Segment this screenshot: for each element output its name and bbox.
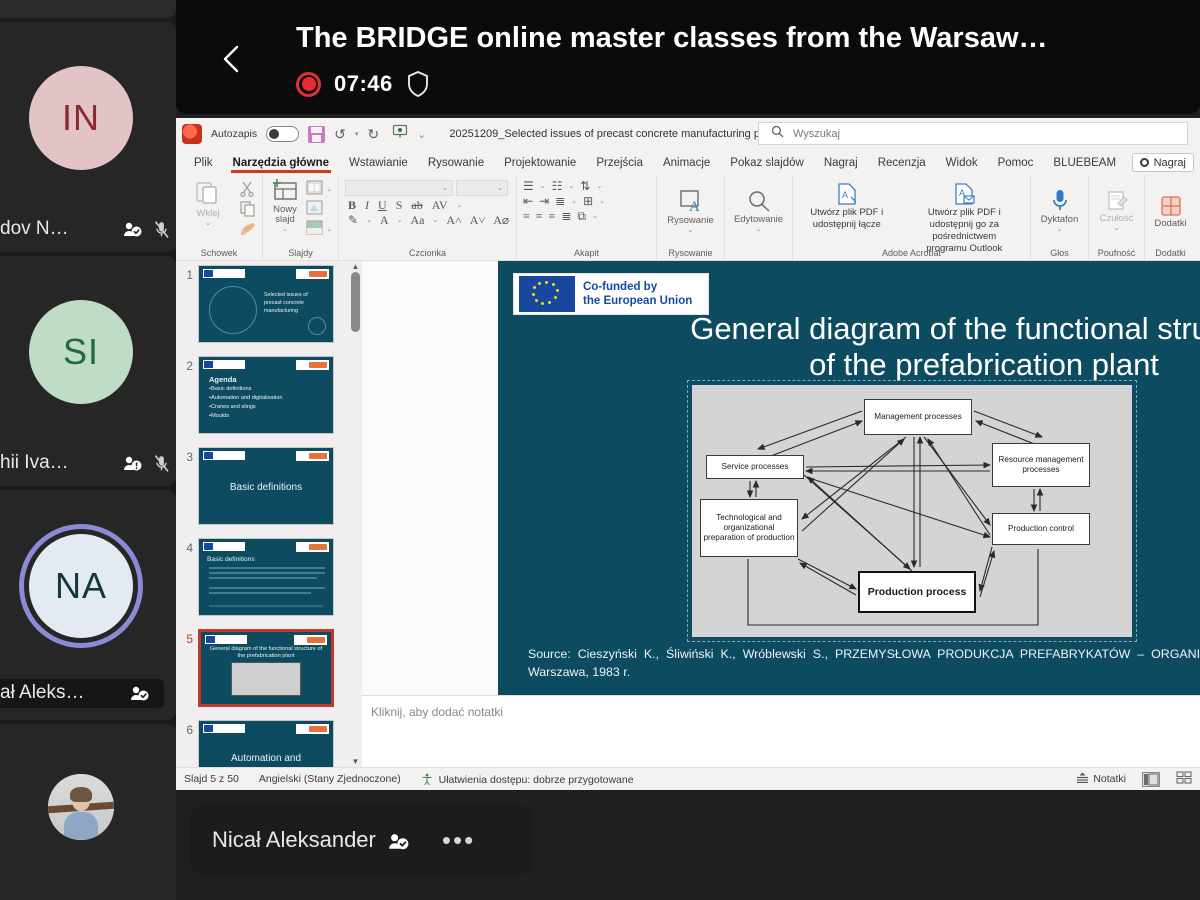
university-seal [209,286,257,334]
ribbon-group-caption: Głos [1031,248,1088,258]
tab-wstawianie[interactable]: Wstawianie [339,154,418,172]
record-button[interactable]: Nagraj [1132,153,1194,172]
avatar-initials: IN [62,97,100,139]
participant-name: hii Iva… [0,452,69,474]
notes-button[interactable]: Notatki [1076,771,1126,787]
justify-icon[interactable]: ≣ [561,210,571,222]
undo-icon[interactable]: ↺ [334,126,346,143]
slide-number: 6 [176,720,198,767]
avatar-photo [48,774,114,840]
strikethrough-button[interactable]: ab [411,199,422,211]
slide-thumbnail-title: Automation and [199,753,333,764]
teams-meeting-window: IN dov N… SI hii Iva… [0,0,1200,900]
tab-recenzja[interactable]: Recenzja [868,154,936,172]
diagram-node-service[interactable]: Service processes [706,455,804,479]
diagram-node-technological-preparation[interactable]: Technological and organizational prepara… [700,499,798,557]
participant-tile[interactable]: IN dov N… [0,22,176,252]
powerpoint-icon [182,124,202,144]
avatar: IN [29,66,133,170]
participant-name: ał Aleks… [0,682,84,704]
language-indicator[interactable]: Angielski (Stany Zjednoczone) [259,773,401,785]
presenter-name-pill[interactable]: Nicał Aleksander ••• [190,806,532,874]
slide-thumbnail-1[interactable]: 1 Selected issues of precast concrete ma… [176,265,362,356]
new-slide-button[interactable]: Nowy slajd ⌄ [269,178,301,233]
tab-widok[interactable]: Widok [936,154,988,172]
addins-button[interactable]: Dodatki [1151,190,1190,229]
slide-title-line1: General diagram of the functional struct… [690,311,1200,346]
drawing-label: Rysowanie [667,216,713,226]
font-size-select[interactable]: ⌄ [456,180,508,196]
bridge-logo-thumb [296,360,329,370]
sensitivity-button[interactable]: Czułość ⌄ [1095,185,1138,232]
ribbon-group-poufnosc: Czułość ⌄ Poufność [1088,175,1144,260]
ribbon-group-rysowanie: A Rysowanie ⌄ Rysowanie [656,175,724,260]
ribbon-group-slajdy: Nowy slajd ⌄ ⌄ ⌄ Slajdy [262,175,338,260]
search-icon [771,125,784,143]
notes-pane[interactable]: Kliknij, aby dodać notatki [362,695,1200,767]
bold-button[interactable]: B [348,199,356,211]
presenter-badge-icon [123,221,143,237]
view-normal-icon[interactable] [1142,772,1160,787]
cut-icon[interactable] [239,180,256,197]
tab-animacje[interactable]: Animacje [653,154,720,172]
badge-circle [308,317,326,335]
svg-text:A: A [842,190,848,200]
line-spacing-icon[interactable]: ≣ [555,195,565,207]
eu-logo-thumb [203,542,245,551]
addins-label: Dodatki [1154,219,1186,229]
tab-plik[interactable]: Plik [184,154,223,172]
participant-name: dov N… [0,218,69,240]
tab-pomoc[interactable]: Pomoc [988,154,1044,172]
slide-thumbnail-5[interactable]: 5 General diagram of the functional stru… [176,629,362,720]
numbering-icon[interactable]: ☷ [552,180,563,192]
notes-label: Notatki [1093,773,1126,785]
slide-title[interactable]: General diagram of the functional struct… [554,311,1200,383]
diagram-node-management[interactable]: Management processes [864,399,972,435]
diagram-node-resource-management[interactable]: Resource management processes [992,443,1090,487]
eu-flag-icon [519,276,575,312]
scrollbar-thumb[interactable] [351,272,360,332]
new-slide-label: Nowy slajd [269,205,301,225]
font-family-select[interactable]: ⌄ [345,180,453,196]
slide-thumbnail-bullet: •Cranes and slings [209,404,256,410]
slide-thumbnail-title: Agenda [209,375,237,384]
mic-muted-icon [153,454,170,473]
participant-namebar: dov N… [0,218,176,240]
dictate-button[interactable]: Dyktafon ⌄ [1037,184,1082,233]
slide-thumbnail-bullet: •Moulds [209,413,229,419]
create-pdf-share-link-button[interactable]: A Utwórz plik PDF i udostępnij łącze [799,182,895,231]
tab-pokaz-slajdow[interactable]: Pokaz slajdów [720,154,814,172]
participant-namebar: hii Iva… [0,452,176,474]
text-line [209,577,317,579]
slide-thumbnail-pane[interactable]: 1 Selected issues of precast concrete ma… [176,261,362,767]
diagram-node-production-control[interactable]: Production control [992,513,1090,545]
participant-status-icons [123,454,176,473]
ribbon-group-adobe-acrobat: A Utwórz plik PDF i udostępnij łącze A U… [792,175,1030,260]
present-icon[interactable] [392,124,408,144]
ribbon-group-czcionka: ⌄ ⌄ B I U S ab AV ⌄ ✎⌄ [338,175,516,260]
presenter-badge-icon [388,832,408,848]
text-line [209,605,323,607]
ribbon-group-caption: Rysowanie [657,248,724,258]
accessibility-icon [421,773,433,785]
record-dot-icon [1140,158,1149,167]
slide-canvas-area[interactable]: Co-funded by the European Union The B ri… [362,261,1200,767]
shadow-button[interactable]: S [396,199,403,211]
view-sorter-icon[interactable] [1176,771,1192,787]
eu-logo-thumb [205,635,247,644]
shield-icon [406,70,430,98]
tab-projektowanie[interactable]: Projektowanie [494,154,586,172]
svg-text:A: A [689,199,700,215]
mic-muted-icon [153,220,170,239]
search-placeholder: Wyszukaj [793,128,840,140]
ribbon-group-caption: Slajdy [263,248,338,258]
tab-przejscia[interactable]: Przejścia [586,154,653,172]
slide-thumbnail-title: General diagram of the functional struct… [206,646,326,661]
tab-nagraj[interactable]: Nagraj [814,154,868,172]
layout-icon[interactable] [306,180,323,197]
dictate-label: Dyktafon [1041,215,1079,225]
powerpoint-window: Autozapis ↺ ▾ ↻ ⌄ 20251209_Selected issu… [176,118,1200,790]
font-color-icon[interactable]: A [380,214,389,226]
text-direction-icon[interactable]: ⇅ [580,180,590,192]
create-pdf-share-link-label: Utwórz plik PDF i udostępnij łącze [802,207,892,231]
quick-access-toolbar: Autozapis ↺ ▾ ↻ ⌄ 20251209_Selected issu… [176,118,1200,150]
slide-title-line2: of the prefabrication plant [554,347,1200,383]
participant-tile-partial[interactable] [0,0,176,18]
ribbon-group-edytowanie: Edytowanie ⌄ [724,175,792,260]
bullets-icon[interactable]: ☰ [523,180,534,192]
autosave-toggle[interactable] [266,126,299,142]
ribbon-group-caption: Czcionka [339,248,516,258]
paste-label: Wklej [196,209,219,219]
create-pdf-share-outlook-button[interactable]: A Utwórz plik PDF i udostępnij go za poś… [905,182,1024,255]
increase-font-size-button[interactable]: A˄ [446,214,461,226]
slide-thumbnail-image[interactable]: Selected issues of precast concrete manu… [198,265,334,343]
presenter-name: Nicał Aleksander [212,827,376,853]
bridge-logo-thumb [296,542,329,552]
ribbon-group-glos: Dyktafon ⌄ Głos [1030,175,1088,260]
paste-button[interactable]: Wklej ⌄ [182,178,234,227]
participant-tile[interactable] [0,724,176,900]
bridge-logo-thumb [296,269,329,279]
undo-dropdown-icon[interactable]: ▾ [355,130,359,138]
section-icon[interactable] [306,220,323,237]
ribbon: Wklej ⌄ Schowek Nowy slajd [176,175,1200,261]
text-line [209,587,325,589]
ribbon-group-caption: Schowek [176,248,262,258]
attention-badge-icon [123,455,143,471]
eu-logo-thumb [203,360,245,369]
ribbon-group-schowek: Wklej ⌄ Schowek [176,175,262,260]
participant-status-icons [130,685,156,701]
eu-logo-thumb [203,451,245,460]
autosave-label: Autozapis [211,128,257,140]
slide-thumbnail-title: Selected issues of precast concrete manu… [264,292,324,315]
slide-thumbnail-6[interactable]: 6 Automation and [176,720,362,767]
record-button-label: Nagraj [1154,157,1186,169]
accessibility-status[interactable]: Ułatwienia dostępu: dobrze przygotowane [421,773,634,786]
increase-indent-icon[interactable]: ⇥ [539,195,549,207]
slide-counter[interactable]: Slajd 5 z 50 [184,773,239,785]
ribbon-tab-strip: Plik Narzędzia główne Wstawianie Rysowan… [176,150,1200,175]
editing-button[interactable]: Edytowanie ⌄ [731,184,786,233]
participant-tile[interactable]: SI hii Iva… [0,256,176,486]
avatar: SI [29,300,133,404]
notes-icon [1076,771,1089,787]
slide-number: 5 [176,629,198,720]
eu-logo-line1: Co-funded by [583,281,657,293]
decrease-indent-icon[interactable]: ⇤ [523,195,533,207]
slide-thumbnail-2[interactable]: 2 Agenda •Basic definitions •Automation … [176,356,362,447]
character-spacing-button[interactable]: AV [432,199,448,211]
record-dot-icon [296,72,321,97]
slide-thumbnail-title: Basic definitions [199,482,333,493]
avatar: NA [29,534,133,638]
ribbon-group-caption: Dodatki [1145,248,1196,258]
slide-thumbnail-image-selected[interactable]: General diagram of the functional struct… [198,629,334,707]
change-case-button[interactable]: Aa [410,214,424,226]
back-chevron-icon[interactable] [220,43,242,75]
text-line [209,572,325,574]
eu-logo-text: Co-funded by the European Union [583,280,692,309]
diagram-container[interactable]: Management processes Service processes R… [688,381,1136,641]
ribbon-group-caption: Adobe Acrobat [793,248,1030,258]
tab-rysowanie[interactable]: Rysowanie [418,154,494,172]
status-right-group: Notatki [1076,771,1192,787]
participant-status-icons [123,220,176,239]
participant-namebar: ał Aleks… [0,679,164,708]
meeting-title: The BRIDGE online master classes from th… [296,22,1176,55]
scroll-down-icon[interactable]: ▼ [351,757,360,766]
presenter-badge-icon [130,685,150,701]
notes-placeholder: Kliknij, aby dodać notatki [371,705,503,719]
slide-thumbnail-3[interactable]: 3 Basic definitions [176,447,362,538]
recording-timer: 07:46 [334,71,393,97]
copy-icon[interactable] [239,200,256,217]
tab-bluebeam[interactable]: BLUEBEAM [1043,154,1126,172]
drawing-button[interactable]: A Rysowanie ⌄ [663,183,718,234]
ribbon-group-caption: Akapit [517,248,656,258]
slide-thumbnail-bullet: •Automation and digitalisation [209,395,282,401]
slide-thumbnail-title: Basic definitions [207,556,255,563]
decrease-font-size-button[interactable]: A˅ [470,214,485,226]
customize-qat-icon[interactable]: ⌄ [417,128,426,141]
align-right-icon[interactable]: ≡ [549,210,556,222]
align-center-icon[interactable]: ≡ [536,210,543,222]
slide-thumbnail-image[interactable]: Basic definitions [198,538,334,616]
redo-icon[interactable]: ↻ [367,126,379,143]
align-left-icon[interactable]: ≡ [523,210,530,222]
ribbon-group-dodatki: Dodatki Dodatki [1144,175,1196,260]
diagram-thumb [231,662,301,696]
document-title[interactable]: 20251209_Selected issues of precast conc… [449,128,792,140]
reset-icon[interactable] [306,200,323,217]
bridge-logo-thumb [296,724,329,734]
text-line [209,567,325,569]
text-line [209,592,311,594]
underline-button[interactable]: U [378,199,387,211]
slide-number: 1 [176,265,198,356]
align-text-icon[interactable]: ⊞ [583,195,593,207]
slide-thumbnail-image[interactable]: Agenda •Basic definitions •Automation an… [198,356,334,434]
slide-thumbnail-image[interactable]: Automation and [198,720,334,767]
diagram-node-production-process[interactable]: Production process [858,571,976,613]
text-highlight-icon[interactable]: ✎ [348,214,358,226]
slide-source-citation[interactable]: Source: Cieszyński K., Śliwiński K., Wró… [528,646,1200,682]
ribbon-group-caption: Poufność [1089,248,1144,258]
eu-logo-line2: the European Union [583,295,692,307]
ribbon-group-akapit: ☰⌄ ☷⌄ ⇅⌄ ⇤ ⇥ ≣⌄ ⊞⌄ ≡ ≡ [516,175,656,260]
presenter-more-button[interactable]: ••• [442,835,475,845]
meeting-header: The BRIDGE online master classes from th… [176,0,1200,114]
italic-button[interactable]: I [365,199,369,211]
avatar-initials: SI [63,331,99,373]
sensitivity-label: Czułość [1100,214,1134,224]
scroll-up-icon[interactable]: ▲ [351,262,360,271]
bridge-logo-thumb [294,635,327,645]
format-painter-icon[interactable] [239,220,256,237]
slide-number: 2 [176,356,198,447]
accessibility-label: Ułatwienia dostępu: dobrze przygotowane [439,774,634,786]
bridge-logo-thumb [296,451,329,461]
slide-thumbnail-4[interactable]: 4 Basic definitions [176,538,362,629]
slide-number: 4 [176,538,198,629]
save-icon[interactable] [308,126,325,143]
status-bar: Slajd 5 z 50 Angielski (Stany Zjednoczon… [176,767,1200,790]
powerpoint-editor-body: 1 Selected issues of precast concrete ma… [176,261,1200,767]
current-slide[interactable]: Co-funded by the European Union The B ri… [498,261,1200,706]
slide-pane-scrollbar[interactable]: ▲ ▼ [351,264,360,764]
slide-number: 3 [176,447,198,538]
slide-thumbnail-bullet: •Basic definitions [209,386,251,392]
participant-tile-active-speaker[interactable]: NA ał Aleks… [0,490,176,720]
slide-thumbnail-image[interactable]: Basic definitions [198,447,334,525]
eu-logo-thumb [203,269,245,278]
avatar-initials: NA [55,565,107,607]
editing-label: Edytowanie [734,215,783,225]
convert-smartart-icon[interactable]: ⧉ [577,210,586,222]
tab-narzedzia-glowne[interactable]: Narzędzia główne [223,154,340,172]
search-input[interactable]: Wyszukaj [758,122,1188,145]
participant-rail: IN dov N… SI hii Iva… [0,0,176,900]
meeting-status-row: 07:46 [296,70,430,98]
eu-cofunded-logo: Co-funded by the European Union [513,273,709,315]
clear-formatting-button[interactable]: A⌀ [493,214,509,226]
eu-logo-thumb [203,724,245,733]
